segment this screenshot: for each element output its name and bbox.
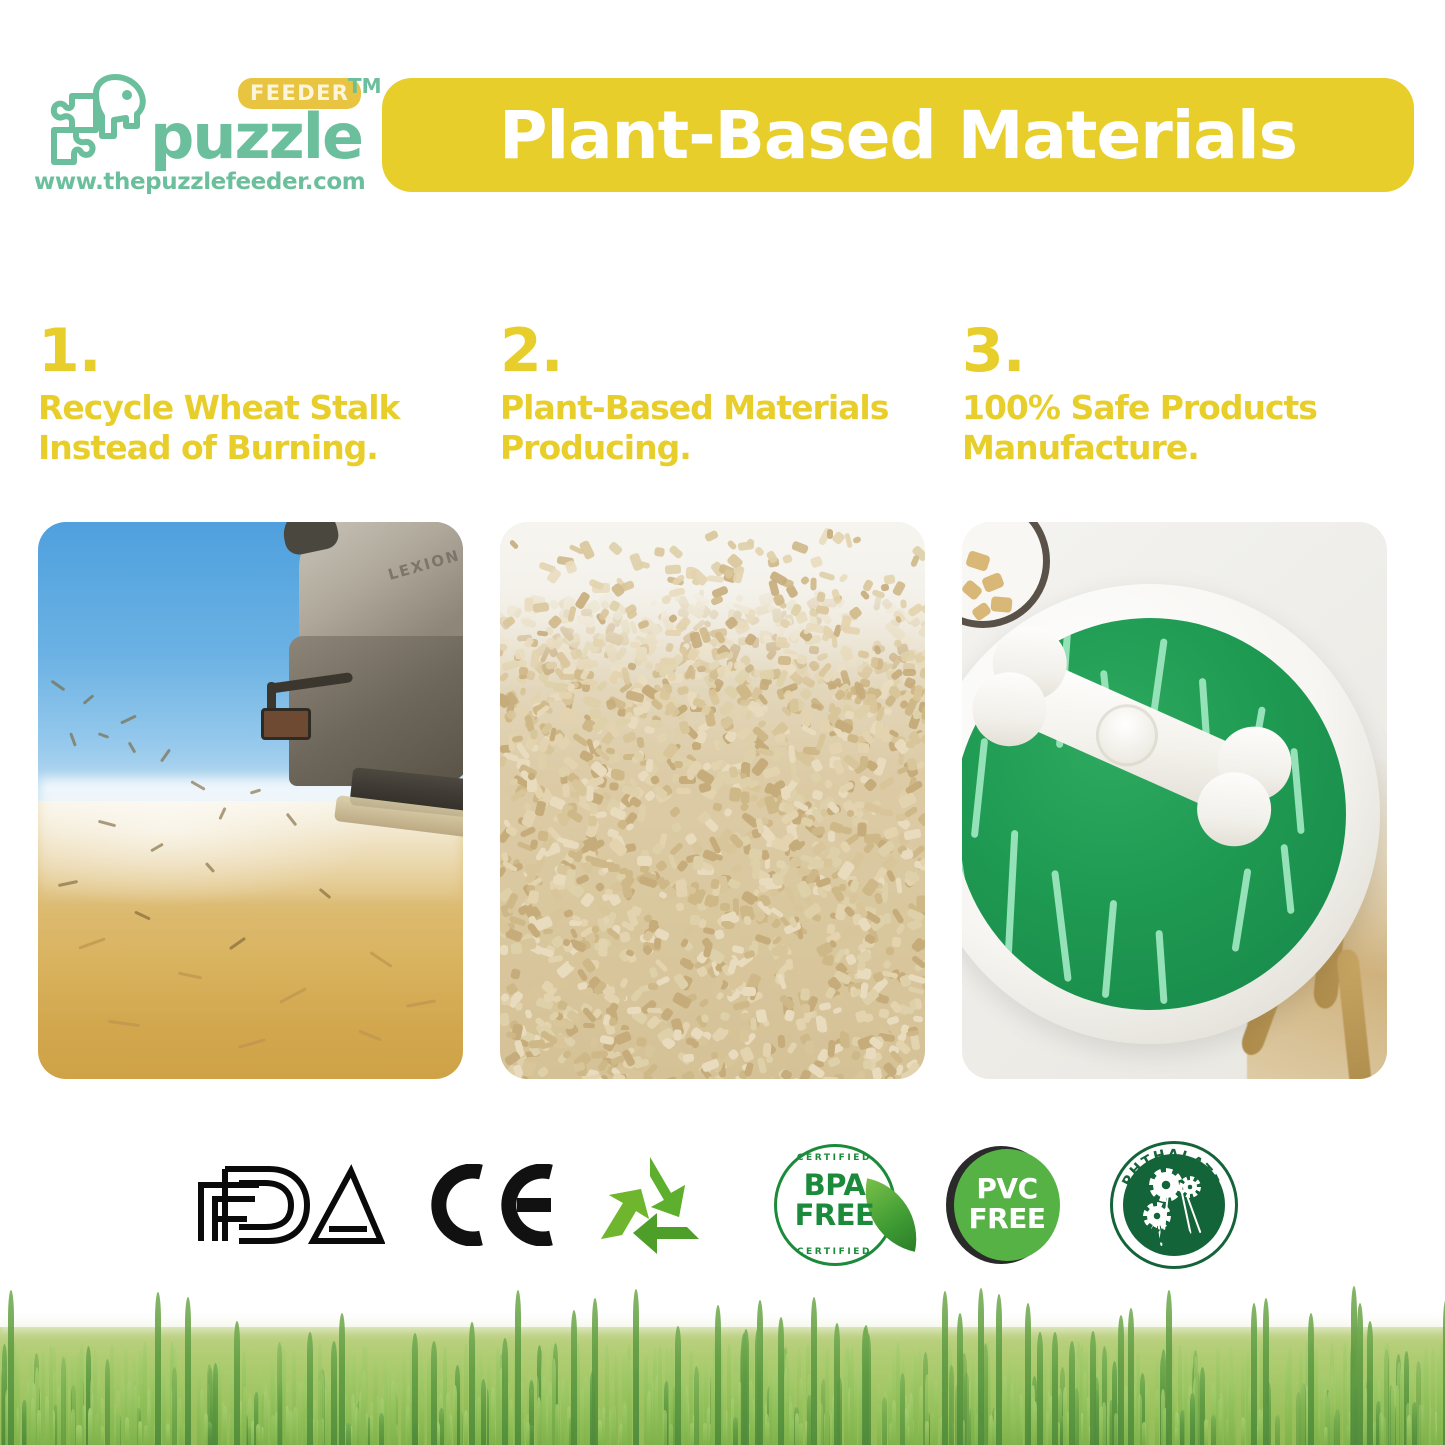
page-header: puzzle FEEDER TM www.thepuzzlefeeder.com… xyxy=(0,0,1445,240)
step-number: 2. xyxy=(500,320,925,386)
bpa-line-1: BPA xyxy=(774,1170,896,1200)
brand-wordmark: puzzle xyxy=(150,106,362,168)
svg-text:FREE: FREE xyxy=(1144,1222,1198,1248)
pvc-free-seal-icon: PVC FREE xyxy=(950,1146,1060,1264)
badge-phthalate-free: PHTHALATE FREE xyxy=(1094,1130,1254,1280)
harvester-brand-label: LEXION xyxy=(386,546,462,584)
recycle-symbol-icon xyxy=(595,1153,705,1258)
step-number: 1. xyxy=(38,320,463,386)
badge-fda: FDA xyxy=(190,1130,390,1280)
bpa-arc-bottom: CERTIFIED xyxy=(774,1247,896,1257)
green-wheat-field-strip xyxy=(0,1280,1445,1445)
brand-website-url[interactable]: www.thepuzzlefeeder.com xyxy=(34,169,365,195)
badge-recycle xyxy=(585,1130,715,1280)
bpa-arc-top: CERTIFIED xyxy=(774,1153,896,1163)
plant-based-pellets-photo xyxy=(500,522,925,1079)
step-item-1: 1. Recycle Wheat Stalk Instead of Burnin… xyxy=(38,320,463,474)
badge-bpa-free: CERTIFIED BPA FREE CERTIFIED xyxy=(752,1130,917,1280)
step-item-3: 3. 100% Safe Products Manufacture. xyxy=(962,320,1387,474)
step-number: 3. xyxy=(962,320,1387,386)
step-heading: Plant-Based Materials Producing. xyxy=(500,388,925,474)
dog-puzzle-piece-icon xyxy=(38,74,156,170)
combine-harvester-icon: LEXION xyxy=(265,522,463,856)
page-title: Plant-Based Materials xyxy=(499,97,1297,174)
svg-text:PHTHALATE: PHTHALATE xyxy=(1119,1147,1222,1190)
title-banner: Plant-Based Materials xyxy=(382,78,1414,192)
green-slow-feeder-bowl-photo xyxy=(962,522,1387,1079)
step-heading: 100% Safe Products Manufacture. xyxy=(962,388,1387,474)
feeder-badge: FEEDER xyxy=(238,78,361,109)
combine-harvester-wheat-field-photo: LEXION xyxy=(38,522,463,1079)
badge-pvc-free: PVC FREE xyxy=(930,1130,1080,1280)
step-item-2: 2. Plant-Based Materials Producing. xyxy=(500,320,925,474)
phthalate-free-seal-icon: PHTHALATE FREE xyxy=(1110,1141,1238,1269)
badge-ce: CE xyxy=(418,1130,568,1280)
bpa-free-seal-icon: CERTIFIED BPA FREE CERTIFIED xyxy=(774,1144,896,1266)
bpa-line-2: FREE xyxy=(774,1200,896,1230)
steps-row: 1. Recycle Wheat Stalk Instead of Burnin… xyxy=(0,320,1445,1110)
pvc-line-1: PVC xyxy=(954,1174,1060,1204)
trademark-symbol: TM xyxy=(348,74,382,98)
brand-logo[interactable]: puzzle FEEDER TM www.thepuzzlefeeder.com xyxy=(32,72,362,200)
step-heading: Recycle Wheat Stalk Instead of Burning. xyxy=(38,388,463,474)
pvc-line-2: FREE xyxy=(954,1204,1060,1234)
certification-badges-row: FDA CE CERTIFIED BPA FREE xyxy=(0,1130,1445,1280)
